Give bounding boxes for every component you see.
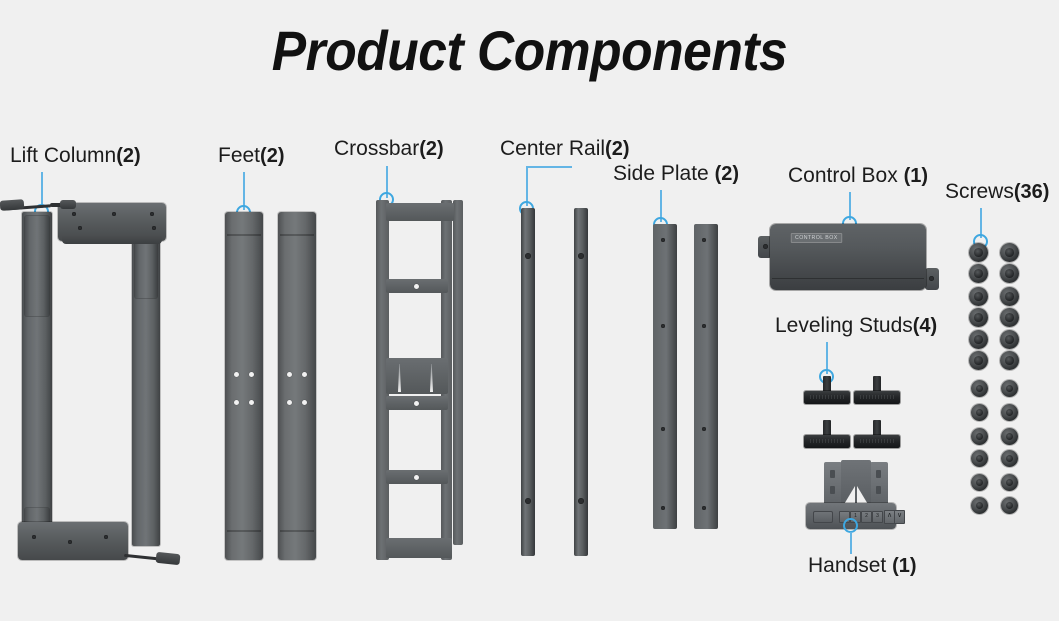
- crossbar-notch: [398, 364, 401, 392]
- label-crossbar-count: (2): [419, 138, 443, 160]
- stud-1-base: [804, 391, 850, 404]
- screw-large: [969, 243, 988, 262]
- crossbar-center-block: [386, 358, 448, 394]
- center-rail-hole: [525, 253, 531, 259]
- side-plate-hole: [661, 238, 665, 242]
- handset-bracket-slot: [830, 486, 835, 494]
- label-side-plate: Side Plate (2): [613, 162, 739, 186]
- label-handset-count: (1): [892, 555, 916, 577]
- foot-hole: [302, 372, 307, 377]
- screw-large: [1000, 287, 1019, 306]
- side-plate-hole: [702, 427, 706, 431]
- screw-large: [969, 308, 988, 327]
- screw-large: [1000, 243, 1019, 262]
- label-center-rail-text: Center Rail: [500, 137, 605, 160]
- screw-small: [1001, 404, 1018, 421]
- label-control-box: Control Box (1): [788, 164, 928, 188]
- screw-large: [1000, 351, 1019, 370]
- leader-center-rail-h: [526, 166, 572, 168]
- screw-small: [1001, 380, 1018, 397]
- label-leveling-studs-count: (4): [913, 315, 937, 337]
- stud-1-stem: [823, 376, 831, 392]
- lift-column-top-bracket-lip: [62, 235, 162, 244]
- screw-small: [971, 474, 988, 491]
- center-rail-hole: [578, 253, 584, 259]
- control-box-tab-hole: [929, 276, 934, 281]
- crossbar-notch: [430, 364, 433, 392]
- side-plate-hole: [661, 324, 665, 328]
- label-center-rail: Center Rail(2): [500, 137, 630, 161]
- label-lift-column: Lift Column(2): [10, 144, 141, 168]
- crossbar-rung: [386, 396, 448, 410]
- label-handset-text: Handset: [808, 554, 886, 577]
- label-crossbar: Crossbar(2): [334, 137, 444, 161]
- screw-large: [1000, 308, 1019, 327]
- side-plate-hole: [661, 427, 665, 431]
- lift-column-plug-top: [0, 199, 24, 211]
- crossbar-rung-top: [386, 203, 454, 221]
- screw-small: [1001, 497, 1018, 514]
- center-rail-hole: [578, 498, 584, 504]
- stud-4-base: [854, 435, 900, 448]
- screw-large: [1000, 264, 1019, 283]
- foot-hole: [287, 400, 292, 405]
- handset-bracket-slot: [876, 470, 881, 478]
- foot-hole: [234, 372, 239, 377]
- page-title: Product Components: [42, 18, 1016, 83]
- label-feet-text: Feet: [218, 144, 260, 167]
- control-box-seam: [772, 278, 924, 279]
- label-feet: Feet(2): [218, 144, 284, 168]
- screw-small: [971, 380, 988, 397]
- side-plate-hole: [702, 506, 706, 510]
- screw-small: [971, 450, 988, 467]
- lift-column-left-inner: [25, 216, 49, 316]
- side-plate-hole: [702, 238, 706, 242]
- foot-hole: [287, 372, 292, 377]
- lift-column-right-inner: [135, 240, 157, 298]
- lift-column-plug-top-b: [60, 200, 76, 209]
- center-rail-1: [521, 208, 535, 556]
- label-side-plate-text: Side Plate: [613, 162, 709, 185]
- foot-1: [225, 212, 263, 560]
- label-lift-column-text: Lift Column: [10, 144, 116, 167]
- bracket-hole: [72, 212, 76, 216]
- handset-bracket-right: [870, 462, 888, 506]
- foot-hole: [249, 400, 254, 405]
- lift-column-plug-bottom: [155, 552, 180, 565]
- screw-large: [969, 287, 988, 306]
- screw-small: [971, 404, 988, 421]
- screw-large: [1000, 330, 1019, 349]
- screw-large: [969, 351, 988, 370]
- bracket-hole: [68, 540, 72, 544]
- control-box-embossed-label: CONTROL BOX: [791, 233, 842, 243]
- leader-lift-column: [41, 172, 43, 208]
- crossbar-hole: [414, 401, 419, 406]
- screw-small: [971, 497, 988, 514]
- stud-3-base: [804, 435, 850, 448]
- handset-display: [813, 511, 833, 523]
- label-crossbar-text: Crossbar: [334, 137, 419, 160]
- side-plate-1: [653, 224, 677, 529]
- foot-seam: [280, 530, 314, 532]
- screw-small: [1001, 428, 1018, 445]
- handset-bracket-slot: [876, 486, 881, 494]
- leader-center-rail-v: [526, 166, 528, 206]
- crossbar-rung: [386, 470, 448, 484]
- bracket-hole: [150, 212, 154, 216]
- foot-seam: [280, 234, 314, 236]
- marker-handset: [843, 518, 858, 533]
- handset-bracket-slot: [830, 470, 835, 478]
- foot-hole: [234, 400, 239, 405]
- label-side-plate-count: (2): [715, 163, 739, 185]
- foot-hole: [302, 400, 307, 405]
- control-box-tab-right: [925, 268, 939, 290]
- leader-handset: [850, 532, 852, 554]
- bracket-hole: [104, 535, 108, 539]
- label-screws-count: (36): [1014, 181, 1050, 203]
- label-center-rail-count: (2): [605, 138, 629, 160]
- label-control-box-text: Control Box: [788, 164, 898, 187]
- screw-small: [971, 428, 988, 445]
- label-leveling-studs: Leveling Studs(4): [775, 314, 937, 338]
- handset-preset-3[interactable]: 3: [872, 511, 883, 523]
- handset-saddle: [841, 460, 871, 508]
- bracket-hole: [78, 226, 82, 230]
- control-box-body: CONTROL BOX: [770, 224, 926, 290]
- crossbar-hole: [414, 475, 419, 480]
- center-rail-hole: [525, 498, 531, 504]
- handset-bracket-left: [824, 462, 842, 506]
- stud-4-stem: [873, 420, 881, 436]
- lift-column-bottom-bracket: [18, 522, 128, 560]
- label-lift-column-count: (2): [116, 145, 140, 167]
- screw-small: [1001, 474, 1018, 491]
- side-plate-hole: [702, 324, 706, 328]
- crossbar-hole: [414, 284, 419, 289]
- screw-large: [969, 330, 988, 349]
- label-screws-text: Screws: [945, 180, 1014, 203]
- stud-2-base: [854, 391, 900, 404]
- label-handset: Handset (1): [808, 554, 917, 578]
- foot-seam: [227, 530, 261, 532]
- label-leveling-studs-text: Leveling Studs: [775, 314, 913, 337]
- foot-seam: [227, 234, 261, 236]
- screw-small: [1001, 450, 1018, 467]
- handset-preset-2[interactable]: 2: [861, 511, 872, 523]
- bracket-hole: [32, 535, 36, 539]
- handset-down-button[interactable]: ∨: [894, 510, 905, 524]
- stud-3-stem: [823, 420, 831, 436]
- bracket-hole: [112, 212, 116, 216]
- crossbar-rail-right-inner: [453, 200, 463, 545]
- label-screws: Screws(36): [945, 180, 1049, 204]
- screw-large: [969, 264, 988, 283]
- label-feet-count: (2): [260, 145, 284, 167]
- center-rail-2: [574, 208, 588, 556]
- foot-hole: [249, 372, 254, 377]
- side-plate-2: [694, 224, 718, 529]
- control-box-tab-hole: [763, 244, 768, 249]
- foot-2: [278, 212, 316, 560]
- crossbar-rung-bottom: [386, 538, 452, 558]
- label-control-box-count: (1): [904, 165, 928, 187]
- crossbar-rung: [386, 279, 448, 293]
- side-plate-hole: [661, 506, 665, 510]
- bracket-hole: [152, 226, 156, 230]
- stud-2-stem: [873, 376, 881, 392]
- diagram-canvas: Product Components Lift Column(2): [0, 0, 1059, 621]
